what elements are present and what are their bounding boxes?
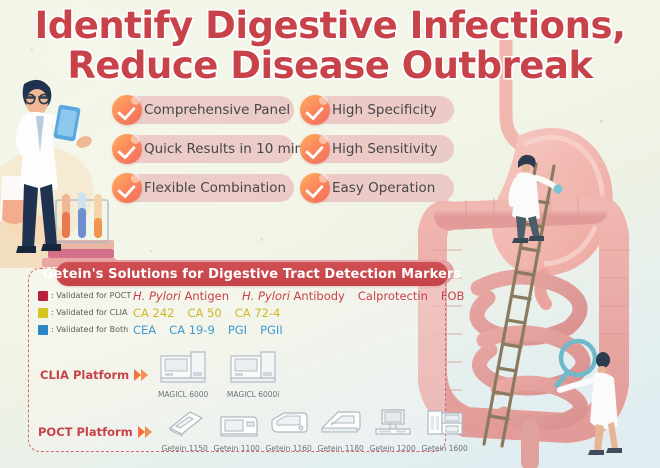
check-circle-icon	[300, 95, 330, 125]
solutions-banner-title: Getein's Solutions for Digestive Tract D…	[43, 267, 462, 282]
device-getein-1200[interactable]: Getein 1200	[367, 408, 419, 456]
marker-group-clia: CA 242 CA 50 CA 72-4	[133, 306, 293, 320]
feature-pill-quick-results[interactable]: Quick Results in 10 min	[114, 135, 294, 163]
feature-pill-comprehensive-panel[interactable]: Comprehensive Panel	[114, 96, 294, 124]
device-label: Getein 1600	[422, 444, 468, 453]
feature-pill-high-specificity[interactable]: High Specificity	[302, 96, 454, 124]
feature-pill-label: High Sensitivity	[332, 141, 438, 157]
tower-analyzer-icon	[422, 408, 468, 438]
legend-row-both: : Validated for Both CEA CA 19-9 PGI PGI…	[38, 322, 477, 337]
legend-caption: : Validated for CLIA	[51, 308, 133, 317]
compact-reader-icon	[266, 408, 312, 438]
doctor-with-tablet-illustration	[0, 72, 122, 272]
feature-pill-high-sensitivity[interactable]: High Sensitivity	[302, 135, 454, 163]
feature-pill-label: High Specificity	[332, 102, 437, 118]
legend-caption: : Validated for POCT	[51, 291, 133, 300]
poct-platform-label: POCT Platform	[38, 425, 133, 439]
feature-pill-label: Easy Operation	[332, 180, 435, 196]
clia-device-list: MAGICL 6000 MAGICL 6000i	[155, 348, 281, 402]
handheld-reader-icon	[162, 408, 208, 438]
legend-swatch-clia	[38, 308, 48, 318]
device-getein-1100[interactable]: Getein 1100	[211, 408, 263, 456]
feature-pill-label: Comprehensive Panel	[144, 102, 290, 118]
check-circle-icon	[112, 134, 142, 164]
device-getein-1180[interactable]: Getein 1180	[315, 408, 367, 456]
marker-ca-72-4: CA 72-4	[235, 306, 281, 320]
analyzer-icon	[155, 348, 211, 384]
marker-ca-242: CA 242	[133, 306, 175, 320]
marker-pgii: PGII	[260, 323, 283, 337]
marker-ca-19-9: CA 19-9	[169, 323, 215, 337]
device-magicl-6000[interactable]: MAGICL 6000	[155, 348, 211, 402]
legend-caption: : Validated for Both	[51, 325, 133, 334]
marker-hpylori-antibody: H. Pylori Antibody	[242, 289, 345, 303]
marker-fob: FOB	[441, 289, 465, 303]
check-circle-icon	[112, 95, 142, 125]
decorative-speck	[260, 238, 263, 241]
check-circle-icon	[112, 173, 142, 203]
feature-pill-list: Comprehensive Panel High Specificity Qui…	[114, 96, 464, 213]
double-chevron-icon	[133, 368, 149, 382]
feature-pill-easy-operation[interactable]: Easy Operation	[302, 174, 454, 202]
device-label: Getein 1100	[214, 444, 260, 453]
legend-row-poct: : Validated for POCT H. Pylori Antigen H…	[38, 288, 477, 303]
marker-group-poct: H. Pylori Antigen H. Pylori Antibody Cal…	[133, 289, 477, 303]
device-getein-1160[interactable]: Getein 1160	[263, 408, 315, 456]
feature-pill-row: Quick Results in 10 min High Sensitivity	[114, 135, 464, 163]
check-circle-icon	[300, 134, 330, 164]
feature-pill-flexible-combination[interactable]: Flexible Combination	[114, 174, 294, 202]
marker-cea: CEA	[133, 323, 156, 337]
poct-platform-row: POCT Platform Getein 1150	[38, 408, 471, 456]
device-label: Getein 1150	[162, 444, 208, 453]
decorative-speck	[30, 48, 33, 51]
marker-legend: : Validated for POCT H. Pylori Antigen H…	[38, 288, 477, 339]
analyzer-icon	[225, 348, 281, 384]
device-getein-1600[interactable]: Getein 1600	[419, 408, 471, 456]
poster-canvas: Identify Digestive Infections, Reduce Di…	[0, 0, 660, 468]
device-magicl-6000i[interactable]: MAGICL 6000i	[225, 348, 281, 402]
marker-calprotectin: Calprotectin	[358, 289, 428, 303]
feature-pill-row: Flexible Combination Easy Operation	[114, 174, 464, 202]
decorative-speck	[150, 250, 152, 252]
marker-group-both: CEA CA 19-9 PGI PGII	[133, 323, 296, 337]
device-label: Getein 1200	[370, 444, 416, 453]
workstation-icon	[370, 408, 416, 438]
legend-swatch-poct	[38, 291, 48, 301]
device-getein-1150[interactable]: Getein 1150	[159, 408, 211, 456]
clia-platform-label: CLIA Platform	[40, 368, 129, 382]
legend-row-clia: : Validated for CLIA CA 242 CA 50 CA 72-…	[38, 305, 477, 320]
clia-platform-row: CLIA Platform MAGICL 6000	[40, 348, 281, 402]
check-circle-icon	[300, 173, 330, 203]
feature-pill-row: Comprehensive Panel High Specificity	[114, 96, 464, 124]
feature-pill-label: Flexible Combination	[144, 180, 286, 196]
decorative-speck	[420, 30, 423, 33]
device-label: MAGICL 6000	[158, 390, 208, 399]
feature-pill-label: Quick Results in 10 min	[144, 141, 303, 157]
marker-pgi: PGI	[228, 323, 247, 337]
device-label: Getein 1180	[318, 444, 364, 453]
solutions-banner: Getein's Solutions for Digestive Tract D…	[56, 262, 448, 286]
poct-device-list: Getein 1150 Getein 1100 Getein	[159, 408, 471, 456]
device-label: Getein 1160	[266, 444, 312, 453]
double-chevron-icon	[137, 425, 153, 439]
legend-swatch-both	[38, 325, 48, 335]
marker-ca-50: CA 50	[188, 306, 222, 320]
benchtop-reader-icon	[214, 408, 260, 438]
flat-reader-icon	[318, 408, 364, 438]
marker-hpylori-antigen: H. Pylori Antigen	[133, 289, 229, 303]
device-label: MAGICL 6000i	[227, 390, 279, 399]
